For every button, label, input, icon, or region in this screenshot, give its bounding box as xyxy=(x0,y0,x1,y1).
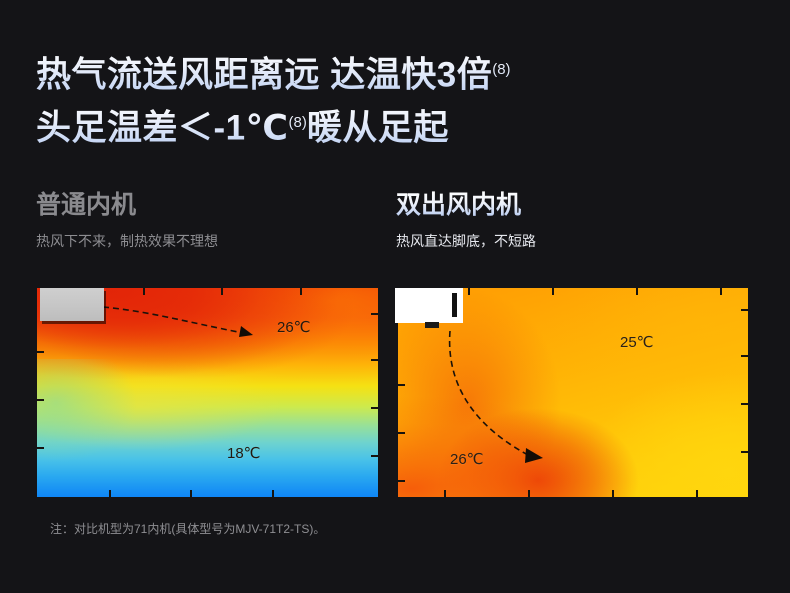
headline-line-2-text-a: 头足温差＜-1℃ xyxy=(36,108,289,147)
air-outlet-icon xyxy=(452,293,457,317)
headline-line-1: 热气流送风距离远 达温快3倍(8) xyxy=(36,46,676,99)
temp-label-right-top: 25℃ xyxy=(620,333,654,351)
heatmap-dual-outlet-unit: 25℃ 26℃ xyxy=(398,288,748,497)
column-subtitle-ordinary-unit: 热风下不来，制热效果不理想 xyxy=(36,232,218,250)
indoor-unit-ordinary xyxy=(40,288,104,321)
headline-line-2-text-b: 暖从足起 xyxy=(307,108,449,147)
indoor-unit-dual-outlet xyxy=(395,288,463,323)
column-subtitle-dual-outlet-unit: 热风直达脚底，不短路 xyxy=(396,232,536,250)
temp-label-left-bottom: 18℃ xyxy=(227,444,261,462)
unit-bottom-outlet-icon xyxy=(425,322,439,328)
headline-line-2: 头足温差＜-1℃(8)暖从足起 xyxy=(36,99,676,152)
promo-slide: 热气流送风距离远 达温快3倍(8) 头足温差＜-1℃(8)暖从足起 普通内机 热… xyxy=(0,0,790,593)
heatmap-ordinary-unit: 26℃ 18℃ xyxy=(37,288,378,497)
temp-label-right-bottom: 26℃ xyxy=(450,450,484,468)
column-title-ordinary-unit: 普通内机 xyxy=(36,190,218,220)
column-header-right: 双出风内机 热风直达脚底，不短路 xyxy=(396,190,536,250)
headline-line-1-text: 热气流送风距离远 达温快3倍 xyxy=(36,56,492,95)
headline-line-2-superscript: (8) xyxy=(289,114,307,131)
temp-label-left-top: 26℃ xyxy=(277,318,311,336)
footnote: 注：对比机型为71内机(具体型号为MJV-71T2-TS)。 xyxy=(50,521,325,537)
headline-line-1-superscript: (8) xyxy=(492,61,510,78)
headline: 热气流送风距离远 达温快3倍(8) 头足温差＜-1℃(8)暖从足起 xyxy=(36,46,676,151)
column-title-dual-outlet-unit: 双出风内机 xyxy=(396,190,536,220)
column-header-left: 普通内机 热风下不来，制热效果不理想 xyxy=(36,190,218,250)
